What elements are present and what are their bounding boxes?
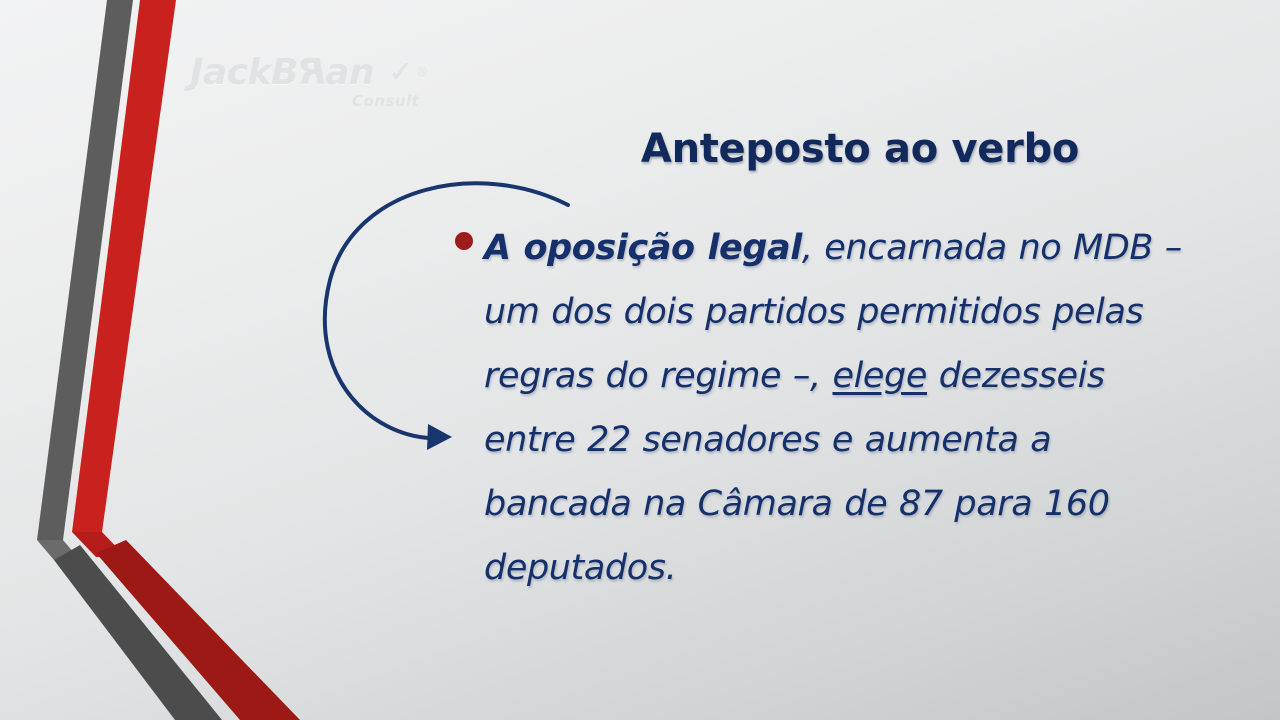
ribbon-gray-upper — [37, 0, 133, 540]
watermark-brand-reversed-r: R — [298, 52, 325, 93]
watermark-subtitle: Consult — [352, 92, 419, 110]
ribbon-red-upper — [72, 0, 176, 532]
ribbon-red-bevel — [72, 532, 126, 557]
ribbon-gray-bevel — [37, 540, 80, 560]
watermark-brand-part4: an — [325, 52, 374, 93]
slide-title: Anteposto ao verbo — [470, 126, 1250, 172]
watermark-brand-part1: Jack — [190, 52, 271, 93]
paragraph-underlined-verb: elege — [832, 356, 927, 396]
ribbon-red-lower — [96, 540, 300, 720]
paragraph-lead-phrase: A oposição legal — [484, 228, 802, 268]
jackbran-watermark-logo: JackBRan ✓ ® Consult — [190, 34, 470, 120]
watermark-wordmark-row: JackBRan ✓ ® — [190, 52, 428, 93]
presentation-slide: JackBRan ✓ ® Consult Anteposto ao verbo … — [0, 0, 1280, 720]
ribbon-gray-lower — [54, 545, 222, 720]
checkmark-icon: ✓ — [388, 55, 413, 90]
body-paragraph: A oposição legal, encarnada no MDB – um … — [452, 216, 1192, 600]
content-bullet-block: A oposição legal, encarnada no MDB – um … — [452, 216, 1192, 600]
arrow-head — [427, 424, 452, 450]
watermark-brand-part2: B — [271, 52, 298, 93]
watermark-brand-text: JackBRan — [190, 52, 374, 93]
registered-trademark-icon: ® — [415, 65, 428, 80]
bullet-point-marker — [455, 232, 473, 250]
